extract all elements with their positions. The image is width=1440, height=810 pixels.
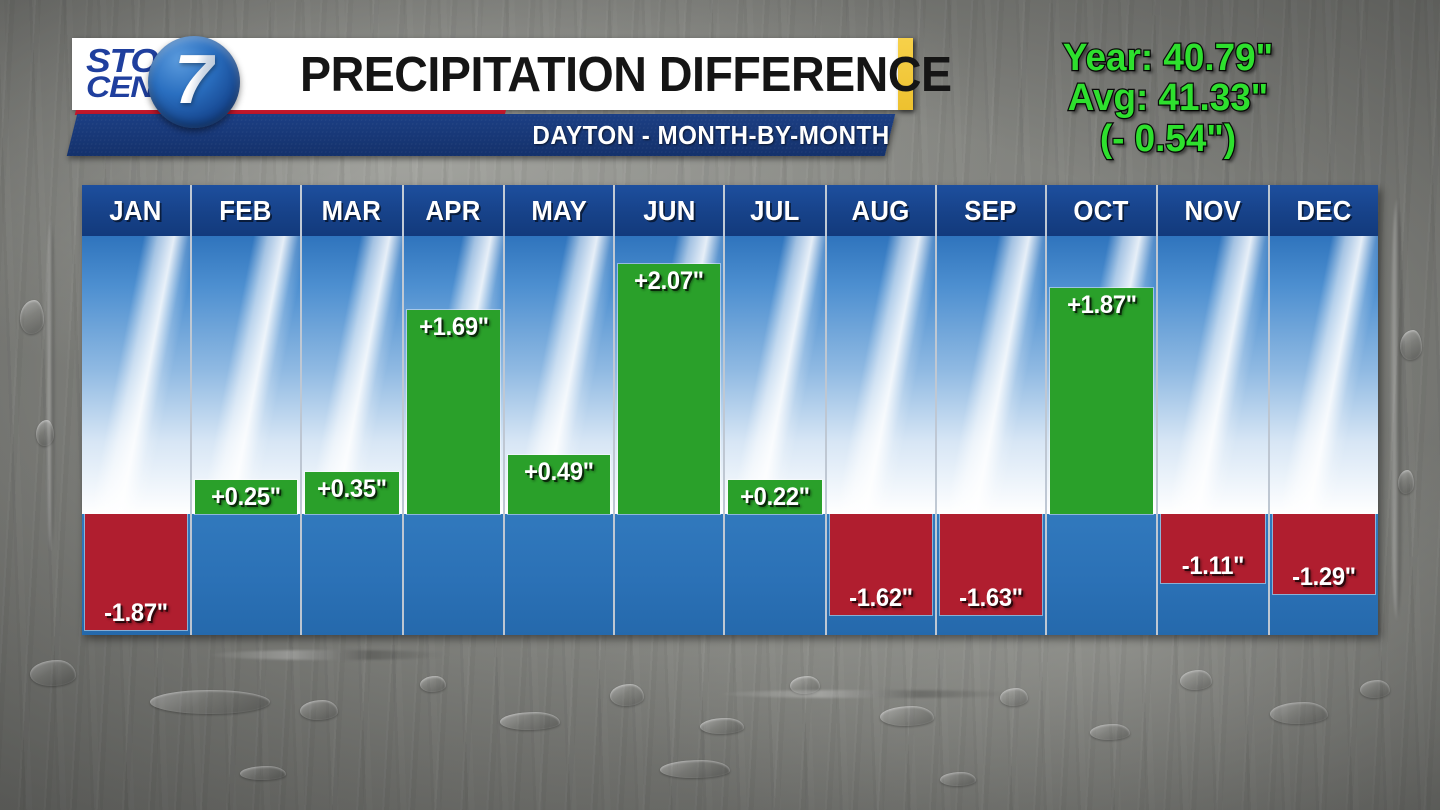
month-label: AUG [852, 195, 910, 227]
month-header-oct: OCT [1047, 185, 1157, 236]
positive-field-background [192, 236, 300, 514]
column-plot-area: +1.87" [1047, 236, 1157, 635]
value-bar-dec [1273, 514, 1375, 594]
month-header-apr: APR [404, 185, 504, 236]
value-bar-mar [305, 472, 399, 514]
month-label: MAR [322, 195, 381, 227]
chart-column-may: MAY+0.49" [505, 185, 615, 635]
month-header-may: MAY [505, 185, 613, 236]
chart-column-jul: JUL+0.22" [725, 185, 827, 635]
column-plot-area: +0.49" [505, 236, 613, 635]
month-label: DEC [1296, 195, 1351, 227]
positive-field-background [937, 236, 1045, 514]
month-label: APR [426, 195, 481, 227]
month-header-jun: JUN [615, 185, 723, 236]
negative-field-background [1047, 514, 1157, 635]
month-label: SEP [964, 195, 1016, 227]
month-label: JAN [110, 195, 162, 227]
value-bar-feb [195, 480, 297, 514]
graphic-header: DAYTON - MONTH-BY-MONTH STORM CENTER 7 P… [0, 0, 1440, 180]
column-plot-area: -1.87" [82, 236, 190, 635]
value-bar-apr [407, 310, 501, 514]
value-bar-jul [728, 480, 822, 514]
month-label: NOV [1185, 195, 1242, 227]
value-bar-aug [830, 514, 932, 615]
value-bar-jan [85, 514, 187, 630]
month-header-jan: JAN [82, 185, 190, 236]
month-header-aug: AUG [827, 185, 935, 236]
chart-column-feb: FEB+0.25" [192, 185, 302, 635]
chart-column-jun: JUN+2.07" [615, 185, 725, 635]
month-label: OCT [1074, 195, 1129, 227]
month-label: FEB [220, 195, 272, 227]
chart-column-dec: DEC-1.29" [1270, 185, 1378, 635]
chart-column-aug: AUG-1.62" [827, 185, 937, 635]
channel-number: 7 [174, 44, 215, 114]
positive-field-background [827, 236, 935, 514]
column-plot-area: -1.62" [827, 236, 935, 635]
negative-field-background [615, 514, 723, 635]
negative-field-background [404, 514, 504, 635]
column-plot-area: +2.07" [615, 236, 723, 635]
chart-column-sep: SEP-1.63" [937, 185, 1047, 635]
month-label: JUN [643, 195, 695, 227]
month-label: JUL [750, 195, 799, 227]
chart-column-nov: NOV-1.11" [1158, 185, 1270, 635]
month-header-sep: SEP [937, 185, 1045, 236]
negative-field-background [302, 514, 402, 635]
channel-7-badge-icon: 7 [148, 36, 240, 128]
stat-year-difference: (- 0.54") [926, 119, 1411, 159]
value-bar-may [508, 455, 610, 514]
positive-field-background [725, 236, 825, 514]
negative-field-background [192, 514, 300, 635]
column-plot-area: -1.29" [1270, 236, 1378, 635]
positive-field-background [1158, 236, 1268, 514]
positive-field-background [1270, 236, 1378, 514]
column-plot-area: +0.35" [302, 236, 402, 635]
month-label: MAY [531, 195, 587, 227]
month-header-mar: MAR [302, 185, 402, 236]
month-header-feb: FEB [192, 185, 300, 236]
value-bar-jun [618, 264, 720, 514]
value-bar-oct [1050, 288, 1154, 514]
subtitle-text: DAYTON - MONTH-BY-MONTH [131, 114, 912, 156]
column-plot-area: -1.63" [937, 236, 1045, 635]
stat-year-total: Year: 40.79" [926, 38, 1411, 78]
column-plot-area: +0.25" [192, 236, 300, 635]
chart-column-apr: APR+1.69" [404, 185, 506, 635]
page-title: PRECIPITATION DIFFERENCE [300, 44, 952, 106]
chart-column-oct: OCT+1.87" [1047, 185, 1159, 635]
column-plot-area: +0.22" [725, 236, 825, 635]
chart-column-mar: MAR+0.35" [302, 185, 404, 635]
precipitation-difference-bar-chart: JAN-1.87"FEB+0.25"MAR+0.35"APR+1.69"MAY+… [82, 185, 1378, 635]
month-header-jul: JUL [725, 185, 825, 236]
value-bar-sep [940, 514, 1042, 615]
negative-field-background [505, 514, 613, 635]
stat-year-average: Avg: 41.33" [926, 78, 1411, 118]
value-bar-nov [1161, 514, 1265, 583]
column-plot-area: -1.11" [1158, 236, 1268, 635]
chart-column-jan: JAN-1.87" [82, 185, 192, 635]
month-header-nov: NOV [1158, 185, 1268, 236]
season-summary-stats: Year: 40.79" Avg: 41.33" (- 0.54") [918, 38, 1418, 159]
positive-field-background [82, 236, 190, 514]
negative-field-background [725, 514, 825, 635]
month-header-dec: DEC [1270, 185, 1378, 236]
column-plot-area: +1.69" [404, 236, 504, 635]
